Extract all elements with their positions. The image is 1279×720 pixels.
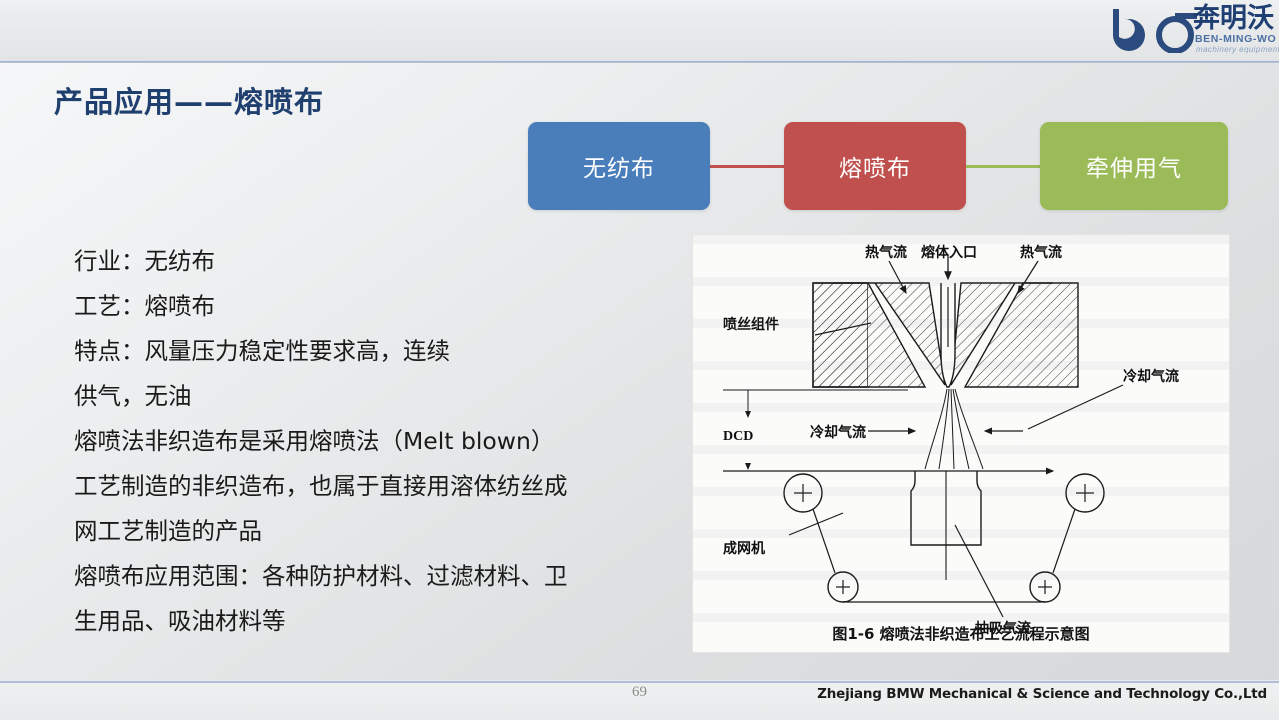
- process-flow: 无纺布 熔喷布 牵伸用气: [528, 122, 1228, 212]
- body-line: 生用品、吸油材料等: [74, 599, 674, 644]
- logo-romanization: BEN-MING-WO: [1195, 33, 1276, 45]
- label-cooling-air-center: 冷却气流: [810, 424, 866, 441]
- body-line: 特点：风量压力稳定性要求高，连续: [74, 329, 674, 374]
- slide-canvas: 奔明沃 BEN-MING-WO machinery equipment 产品应用…: [0, 0, 1279, 720]
- body-line: 熔喷法非织造布是采用熔喷法（Melt blown）: [74, 419, 674, 464]
- process-diagram-figure: 热气流 熔体入口 热气流 喷丝组件 冷却气流 冷却气流 DCD 成网机 抽吸气流…: [692, 234, 1230, 653]
- meltblown-process-diagram: 热气流 熔体入口 热气流 喷丝组件 冷却气流 冷却气流 DCD 成网机 抽吸气流: [693, 235, 1229, 652]
- figure-caption: 图1-6 熔喷法非织造布工艺流程示意图: [693, 623, 1229, 644]
- body-line: 工艺：熔喷布: [74, 284, 674, 329]
- flow-box-meltblown[interactable]: 熔喷布: [784, 122, 966, 210]
- label-dcd: DCD: [723, 429, 753, 444]
- header-divider: [0, 60, 1279, 63]
- body-line: 网工艺制造的产品: [74, 509, 674, 554]
- label-hot-air-left: 热气流: [865, 244, 907, 261]
- flow-box-nonwoven[interactable]: 无纺布: [528, 122, 710, 210]
- body-line: 工艺制造的非织造布，也属于直接用溶体纺丝成: [74, 464, 674, 509]
- label-spinneret: 喷丝组件: [723, 316, 779, 333]
- company-name: Zhejiang BMW Mechanical & Science and Te…: [817, 686, 1267, 702]
- flow-connector-red: [710, 165, 784, 168]
- body-line: 熔喷布应用范围：各种防护材料、过滤材料、卫: [74, 554, 674, 599]
- label-hot-air-right: 热气流: [1020, 244, 1062, 261]
- label-web-former: 成网机: [723, 540, 765, 557]
- logo-chinese-name: 奔明沃: [1193, 4, 1274, 33]
- header-band: [0, 0, 1279, 61]
- body-text-block: 行业：无纺布 工艺：熔喷布 特点：风量压力稳定性要求高，连续 供气，无油 熔喷法…: [74, 239, 674, 644]
- bo-monogram-icon: [1105, 5, 1201, 53]
- label-cooling-air-right: 冷却气流: [1123, 368, 1179, 385]
- flow-connector-green: [966, 165, 1040, 168]
- page-title: 产品应用——熔喷布: [54, 79, 324, 121]
- logo-tagline: machinery equipment: [1196, 45, 1279, 54]
- label-melt-inlet: 熔体入口: [921, 244, 977, 261]
- body-line: 行业：无纺布: [74, 239, 674, 284]
- company-logo: 奔明沃 BEN-MING-WO machinery equipment: [1105, 3, 1273, 58]
- flow-box-drawing-air[interactable]: 牵伸用气: [1040, 122, 1228, 210]
- body-line: 供气，无油: [74, 374, 674, 419]
